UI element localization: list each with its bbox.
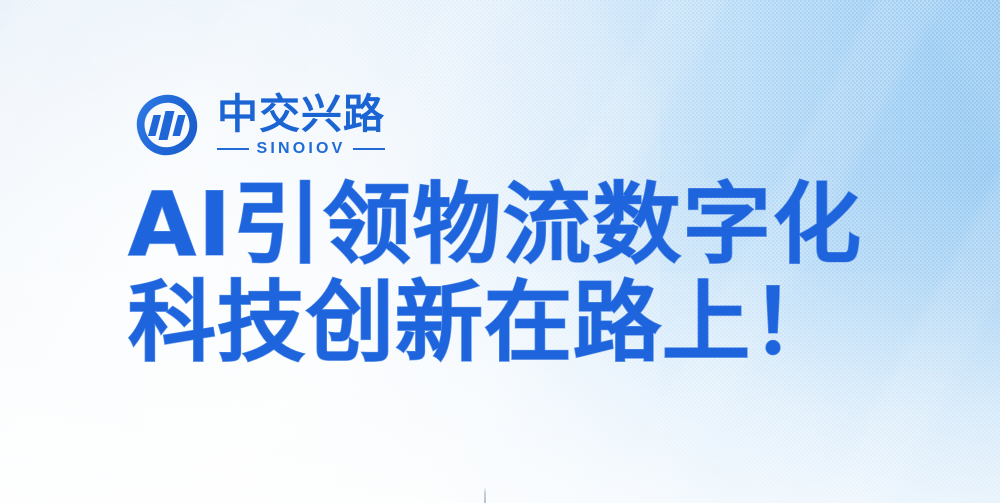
company-name-cn: 中交兴路 [217, 94, 385, 136]
wordmark-rule-left [217, 148, 249, 150]
headline-block: AI引领物流数字化 科技创新在路上！ [128, 176, 898, 372]
headline-line-2: 科技创新在路上！ [128, 274, 898, 372]
bottom-tick-mark [484, 487, 486, 503]
promotional-banner: 中交兴路 SINOIOV AI引领物流数字化 科技创新在路上！ [0, 0, 1000, 503]
headline-line-1: AI引领物流数字化 [128, 176, 898, 274]
sinoiov-emblem-icon [131, 90, 203, 160]
company-name-en-row: SINOIOV [217, 140, 385, 158]
brand-wordmark: 中交兴路 SINOIOV [217, 92, 385, 158]
wordmark-rule-right [353, 148, 385, 150]
company-name-en: SINOIOV [256, 140, 345, 158]
banner-content: 中交兴路 SINOIOV AI引领物流数字化 科技创新在路上！ [0, 0, 1000, 503]
brand-logo-lockup: 中交兴路 SINOIOV [131, 90, 385, 160]
